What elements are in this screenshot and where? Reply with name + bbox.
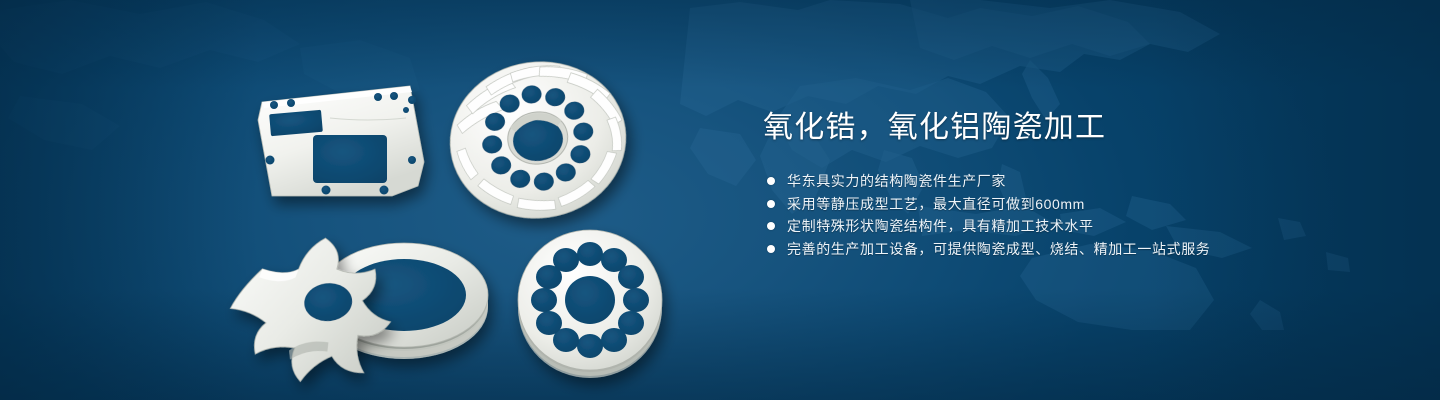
feature-text: 定制特殊形状陶瓷结构件，具有精加工技术水平 (787, 216, 1094, 236)
feature-list: 华东具实力的结构陶瓷件生产厂家 采用等静压成型工艺，最大直径可做到600mm 定… (767, 170, 1323, 260)
feature-text: 华东具实力的结构陶瓷件生产厂家 (787, 171, 1006, 191)
bullet-dot-icon (767, 200, 775, 208)
bullet-dot-icon (767, 177, 775, 185)
ceramic-perforated-disc (518, 230, 662, 378)
bullet-dot-icon (767, 222, 775, 230)
ceramic-machined-plate (258, 86, 424, 196)
bullet-dot-icon (767, 245, 775, 253)
ceramic-bladed-impeller (440, 51, 636, 230)
list-item: 完善的生产加工设备，可提供陶瓷成型、烧结、精加工一站式服务 (767, 238, 1323, 261)
banner-headline: 氧化锆，氧化铝陶瓷加工 (763, 108, 1323, 148)
banner-copy: 氧化锆，氧化铝陶瓷加工 华东具实力的结构陶瓷件生产厂家 采用等静压成型工艺，最大… (763, 108, 1323, 260)
list-item: 华东具实力的结构陶瓷件生产厂家 (767, 170, 1323, 193)
list-item: 定制特殊形状陶瓷结构件，具有精加工技术水平 (767, 215, 1323, 238)
feature-text: 采用等静压成型工艺，最大直径可做到600mm (787, 194, 1085, 214)
list-item: 采用等静压成型工艺，最大直径可做到600mm (767, 193, 1323, 216)
feature-text: 完善的生产加工设备，可提供陶瓷成型、烧结、精加工一站式服务 (787, 239, 1210, 259)
hero-banner: 氧化锆，氧化铝陶瓷加工 华东具实力的结构陶瓷件生产厂家 采用等静压成型工艺，最大… (0, 0, 1440, 400)
ceramic-products-image (0, 0, 720, 400)
